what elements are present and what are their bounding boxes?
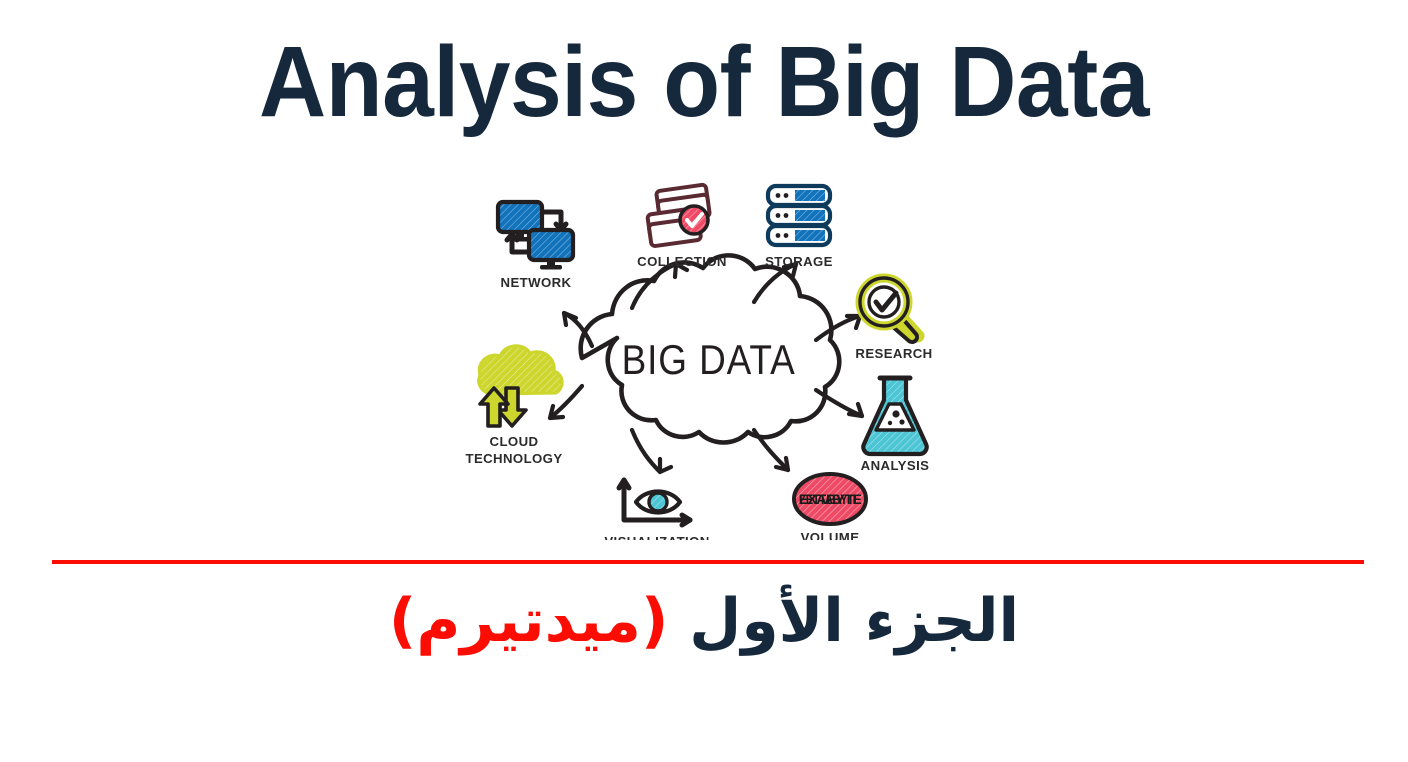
node-label-storage: STORAGE — [765, 254, 833, 269]
cloud-center-label: BIG DATA — [622, 337, 796, 384]
node-label-volume: VOLUME — [801, 530, 860, 540]
node-label-network: NETWORK — [501, 275, 572, 290]
eye-axes-icon: VISUALIZATION — [604, 480, 709, 540]
horizontal-divider — [52, 560, 1364, 564]
node-label-visualization: VISUALIZATION — [604, 534, 709, 540]
document-stack-icon: COLLECTION — [637, 184, 727, 269]
cloud-arrows-icon: CLOUD TECHNOLOGY — [465, 346, 562, 466]
ellipse-badge-icon: EXABYTE ZETTABYTE VOLUME — [794, 474, 866, 540]
flask-icon: ANALYSIS — [861, 378, 930, 473]
subtitle: الجزء الأول (ميدتيرم) — [0, 578, 1408, 665]
node-label-cloud-line1: CLOUD — [490, 434, 539, 449]
volume-unit-b: ZETTABYTE — [799, 492, 860, 507]
page-title: Analysis of Big Data — [49, 26, 1358, 138]
subtitle-main-text: الجزء الأول — [689, 586, 1019, 656]
server-rack-icon: STORAGE — [765, 186, 833, 269]
subtitle-paren-text: (ميدتيرم) — [389, 586, 668, 656]
magnifier-check-icon: RESEARCH — [855, 278, 932, 361]
cloud-shape: BIG DATA — [581, 255, 840, 442]
node-label-collection: COLLECTION — [637, 254, 727, 269]
two-monitors-icon: NETWORK — [498, 202, 573, 290]
node-label-cloud-line2: TECHNOLOGY — [465, 451, 562, 466]
node-label-research: RESEARCH — [855, 346, 932, 361]
node-label-analysis: ANALYSIS — [861, 458, 930, 473]
big-data-infographic: BIG DATA — [464, 178, 956, 540]
arrow-to-visualization — [632, 430, 660, 472]
